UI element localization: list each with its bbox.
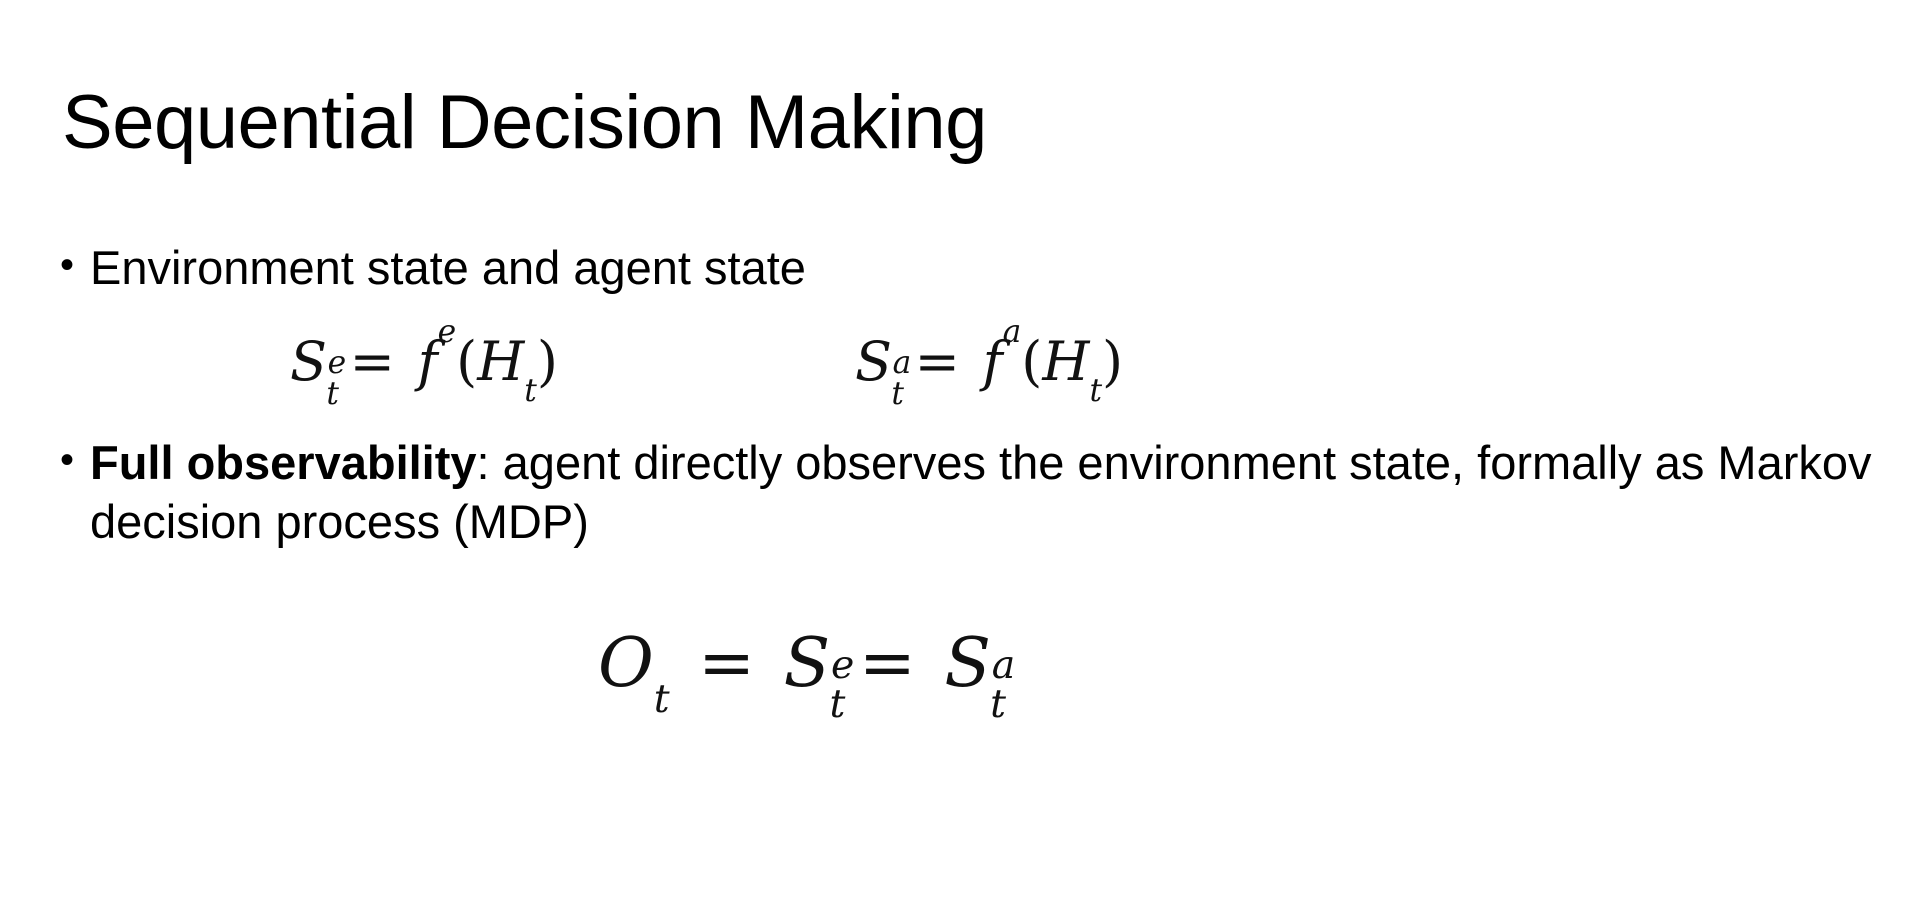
bullet-text-environment-state: Environment state and agent state <box>90 238 1882 297</box>
full-observability-equation: Ot=Set=Sat <box>598 624 991 703</box>
eq-arg-subscript-t: t <box>524 373 537 409</box>
eq-open-paren: ( <box>1021 330 1042 393</box>
eq-subscript-t: t <box>829 681 845 727</box>
eq-arg-subscript-t: t <box>1089 373 1102 409</box>
eq-operator-equals-2: = <box>859 624 916 703</box>
bullet-marker-icon: • <box>52 433 90 487</box>
eq-base-S: S <box>290 330 327 393</box>
eq-base-S-env: S <box>784 624 831 703</box>
eq-operator-equals: = <box>350 330 395 393</box>
eq-function-f: f <box>418 330 438 393</box>
equation-row-states: Set=fe(Ht) Sat=fa(Ht) <box>0 330 1920 410</box>
eq-close-paren: ) <box>1102 330 1123 393</box>
eq-open-paren: ( <box>456 330 477 393</box>
page-title: Sequential Decision Making <box>62 79 987 166</box>
eq-base-S-agent: S <box>944 624 991 703</box>
agent-state-equation: Sat=fa(Ht) <box>855 330 1123 393</box>
bullet-bold-lead-full-observability: Full observability <box>90 436 477 489</box>
bullet-item-full-observability: • Full observability: agent directly obs… <box>52 433 1882 551</box>
eq-base-S: S <box>855 330 892 393</box>
eq-base-O: O <box>598 624 654 703</box>
env-state-equation: Set=fe(Ht) <box>290 330 558 393</box>
eq-subscript-t: t <box>326 376 339 412</box>
eq-subscript-t: t <box>990 681 1006 727</box>
bullet-text-full-observability: Full observability: agent directly obser… <box>90 433 1882 551</box>
eq-operator-equals-1: = <box>698 624 755 703</box>
eq-subscript-t: t <box>654 676 670 722</box>
eq-arg-H: H <box>1042 330 1089 393</box>
eq-function-superscript-a: a <box>1003 314 1022 350</box>
eq-operator-equals: = <box>915 330 960 393</box>
eq-function-superscript-e: e <box>438 314 457 350</box>
eq-subscript-t: t <box>891 376 904 412</box>
bullet-marker-icon: • <box>52 238 90 292</box>
bullet-item-environment-state: • Environment state and agent state <box>52 238 1882 297</box>
eq-function-f: f <box>983 330 1003 393</box>
slide-canvas: Sequential Decision Making • Environment… <box>0 0 1920 920</box>
eq-close-paren: ) <box>537 330 558 393</box>
eq-arg-H: H <box>477 330 524 393</box>
